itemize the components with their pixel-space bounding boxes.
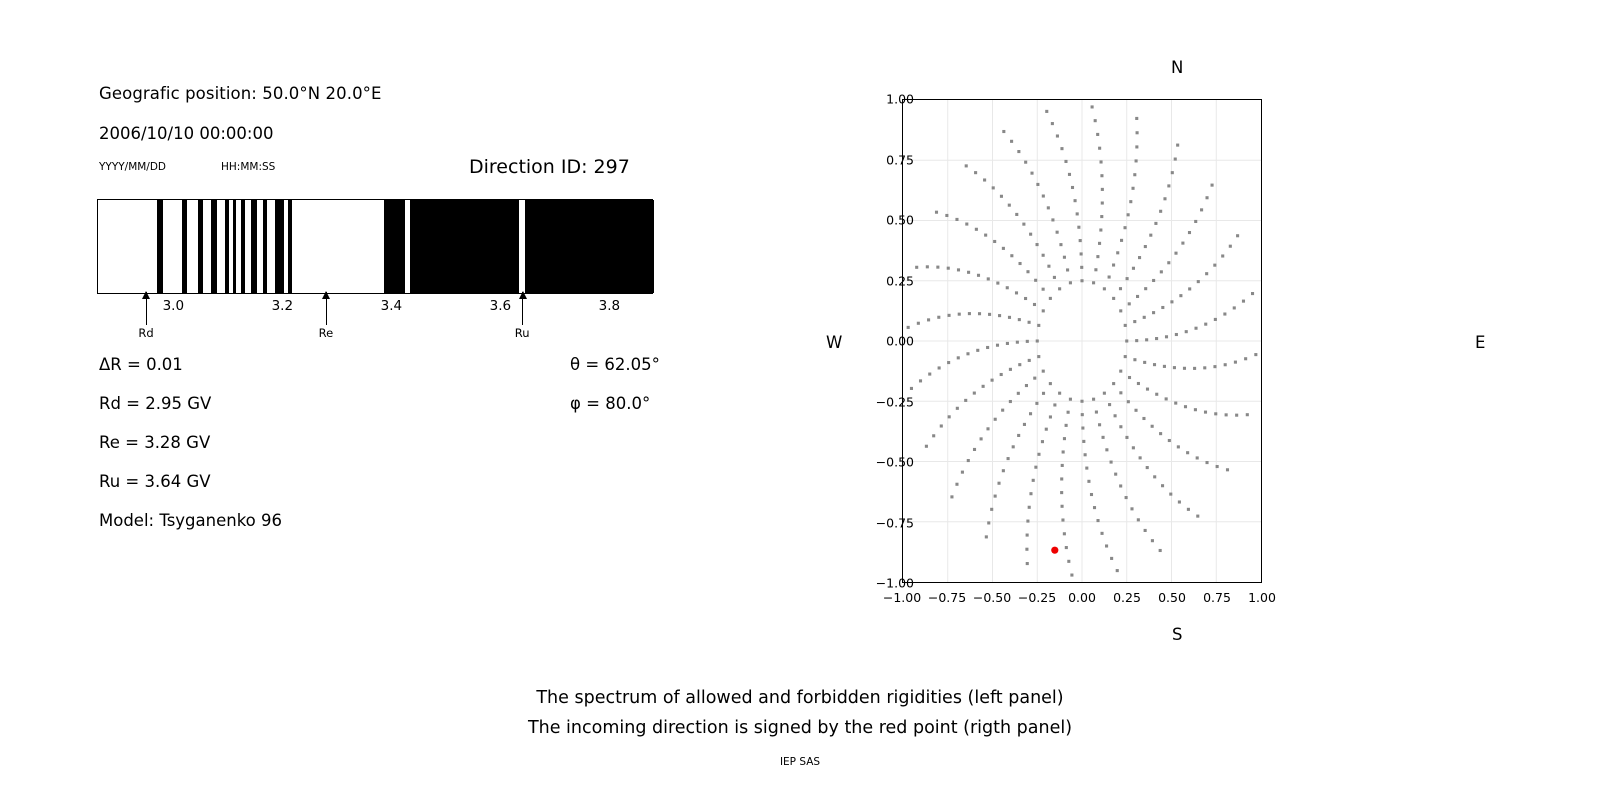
scatter-point [996,282,999,285]
scatter-point [1196,456,1199,459]
scatter-point [1116,251,1119,254]
scatter-point [935,211,938,214]
scatter-point [1126,277,1129,280]
scatter-point [1144,529,1147,532]
scatter-point [1159,210,1162,213]
scatter-point [1063,437,1066,440]
scatter-point [1035,402,1038,405]
scatter-point [938,366,941,369]
scatter-point [965,223,968,226]
scatter-point [1012,445,1015,448]
scatter-point [1002,469,1005,472]
scatter-point [1026,520,1029,523]
scatter-point [1017,392,1020,395]
scatter-point [1112,297,1115,300]
scatter-point [1066,268,1069,271]
scatter-point [1229,245,1232,248]
scatter-point [1105,544,1108,547]
scatter-point [1032,479,1035,482]
forbidden-band [525,200,654,293]
scatter-point [948,415,951,418]
x-tick-label: 0.50 [1158,590,1186,605]
scatter-point [1119,309,1122,312]
scatter-point [1108,403,1111,406]
scatter-point [1082,440,1085,443]
scatter-point [1188,287,1191,290]
spectrum-tick-label: 3.6 [490,298,511,314]
scatter-point [1174,158,1177,161]
y-tick-label: 1.00 [886,92,914,107]
scatter-point [1139,456,1142,459]
scatter-point [1036,339,1039,342]
scatter-point [1025,548,1028,551]
scatter-point [1060,147,1063,150]
scatter-point [994,495,997,498]
scatter-point [1045,428,1048,431]
scatter-point [976,349,979,352]
scatter-point [1099,228,1102,231]
scatter-point [1015,213,1018,216]
scatter-point [1145,338,1148,341]
scatter-point [1129,200,1132,203]
scatter-point [1098,423,1101,426]
scatter-point [1060,491,1063,494]
scatter-point [1051,122,1054,125]
forbidden-band [211,200,217,293]
scatter-point [1224,363,1227,366]
spectrum-axis: 3.03.23.43.63.8RdReRu [97,294,653,350]
scatter-point [1152,311,1155,314]
scatter-point [1138,256,1141,259]
scatter-point [1153,475,1156,478]
scatter-point [1053,403,1056,406]
scatter-point [1007,457,1010,460]
scatter-point [1049,382,1052,385]
scatter-point [1235,414,1238,417]
scatter-point [936,266,939,269]
scatter-point [1127,400,1130,403]
scatter-point [1002,247,1005,250]
scatter-point [1114,473,1117,476]
scatter-point [1193,367,1196,370]
scatter-point [1155,393,1158,396]
scatter-point [1204,323,1207,326]
scatter-point [966,352,969,355]
scatter-point [1042,194,1045,197]
scatter-point [1213,365,1216,368]
y-tick-label: −0.50 [876,455,914,470]
scatter-point [958,313,961,316]
scatter-point [1025,384,1028,387]
scatter-point [1067,560,1070,563]
scatter-point [1065,424,1068,427]
scatter-point [1100,160,1103,163]
scatter-point [1037,324,1040,327]
scatter-point [947,314,950,317]
scatter-point [1076,212,1079,215]
spectrum-bar [97,199,653,294]
scatter-point [1061,518,1064,521]
incoming-direction-point [1051,547,1058,554]
scatter-point [1033,377,1036,380]
scatter-point [1226,468,1229,471]
y-tick-label: 0.75 [886,152,914,167]
scatter-point [1087,480,1090,483]
scatter-point [1179,294,1182,297]
scatter-point [1051,218,1054,221]
polar-scatter-panel [800,0,1600,660]
scatter-point [1079,239,1082,242]
scatter-point [1205,461,1208,464]
compass-label-west: W [826,333,842,352]
scatter-point [1131,187,1134,190]
scatter-point [1211,184,1214,187]
scatter-point [1049,297,1052,300]
scatter-point [1081,413,1084,416]
scatter-point [1234,361,1237,364]
scatter-point [1110,461,1113,464]
scatter-point [1018,318,1021,321]
scatter-point [1112,382,1115,385]
scatter-point [1091,105,1094,108]
left-panel: Geografic position: 50.0°N 20.0°E 2006/1… [0,0,800,660]
scatter-point [1163,365,1166,368]
scatter-point [1023,423,1026,426]
forbidden-band [288,200,292,293]
date-format-hint: YYYY/MM/DD [99,161,166,173]
param-model: Model: Tsyganenko 96 [99,511,282,530]
scatter-point [1096,519,1099,522]
scatter-point [1173,366,1176,369]
scatter-point [1036,243,1039,246]
scatter-point [1033,303,1036,306]
scatter-point [985,535,988,538]
scatter-point [1125,436,1128,439]
scatter-point [1060,477,1063,480]
y-tick-label: 0.25 [886,273,914,288]
scatter-point [932,434,935,437]
scatter-point [1017,150,1020,153]
scatter-point [1010,254,1013,257]
scatter-point [1028,359,1031,362]
scatter-point [1029,492,1032,495]
scatter-point [1149,234,1152,237]
marker-arrow-head [519,291,527,299]
scatter-point [987,521,990,524]
scatter-point [1001,409,1004,412]
param-ru: Ru = 3.64 GV [99,472,211,491]
scatter-point [919,379,922,382]
scatter-point [1064,160,1067,163]
scatter-point [1178,500,1181,503]
scatter-point [1120,239,1123,242]
scatter-point [1165,335,1168,338]
scatter-point [1037,453,1040,456]
scatter-point [1100,215,1103,218]
scatter-point [964,399,967,402]
scatter-point [1006,342,1009,345]
scatter-point [1098,147,1101,150]
scatter-point [1030,172,1033,175]
scatter-point [917,322,920,325]
marker-arrow-head [142,291,150,299]
scatter-point [957,356,960,359]
scatter-point [984,234,987,237]
scatter-point [915,266,918,269]
scatter-point [1254,353,1257,356]
scatter-point [1096,255,1099,258]
scatter-point [968,312,971,315]
scatter-point [1026,534,1029,537]
scatter-point [991,379,994,382]
scatter-point [1103,392,1106,395]
scatter-point [1042,309,1045,312]
forbidden-band [182,200,187,293]
scatter-point [950,495,953,498]
scatter-point [1152,279,1155,282]
scatter-point [1053,276,1056,279]
param-re: Re = 3.28 GV [99,433,210,452]
direction-id-label: Direction ID: 297 [469,156,630,178]
param-delta-r: ΔR = 0.01 [99,355,183,374]
scatter-point [961,471,964,474]
scatter-point [1009,368,1012,371]
scatter-point [1204,411,1207,414]
scatter-point [1119,370,1122,373]
scatter-point [1155,337,1158,340]
scatter-point [1041,440,1044,443]
x-axis-ticks: −1.00−0.75−0.50−0.250.000.250.500.751.00 [0,590,1600,612]
scatter-point [1197,280,1200,283]
scatter-point [1042,392,1045,395]
scatter-point [1047,206,1050,209]
scatter-point [1177,445,1180,448]
scatter-point [1119,425,1122,428]
scatter-point [1225,413,1228,416]
scatter-point [1160,270,1163,273]
scatter-point [1000,195,1003,198]
scatter-point [1124,355,1127,358]
scatter-point [1026,270,1029,273]
scatter-point [1002,130,1005,133]
scatter-point [1169,493,1172,496]
scatter-point [1119,287,1122,290]
scatter-point [955,218,958,221]
scatter-point [1080,400,1083,403]
scatter-point [975,228,978,231]
scatter-point [1143,316,1146,319]
marker-arrow-head [322,291,330,299]
scatter-point [1153,363,1156,366]
scatter-point [1010,140,1013,143]
scatter-point [1008,316,1011,319]
forbidden-band [233,200,236,293]
scatter-point [1119,391,1122,394]
scatter-point [1159,432,1162,435]
scatter-point [1085,467,1088,470]
scatter-point [1233,306,1236,309]
scatter-point [1098,242,1101,245]
scatter-point [1017,434,1020,437]
x-tick-label: −0.50 [973,590,1011,605]
scatter-point [947,361,950,364]
scatter-point [967,459,970,462]
scatter-point [997,482,1000,485]
scatter-point [1142,417,1145,420]
scatter-point [1242,300,1245,303]
scatter-point [928,373,931,376]
scatter-point [1022,223,1025,226]
scatter-point [937,316,940,319]
scatter-point [1056,134,1059,137]
scatter-point [983,178,986,181]
scatter-point [1181,242,1184,245]
scatter-point [925,445,928,448]
scatter-point [1101,201,1104,204]
scatter-point [1170,300,1173,303]
y-tick-label: −0.75 [876,515,914,530]
scatter-point [1175,333,1178,336]
scatter-point [1221,254,1224,257]
scatter-point [1194,408,1197,411]
scatter-point [1214,412,1217,415]
scatter-point [1028,506,1031,509]
scatter-point [1194,327,1197,330]
scatter-point [1196,515,1199,518]
scatter-point [1176,144,1179,147]
scatter-point [973,448,976,451]
scatter-point [1125,496,1128,499]
spectrum-tick-label: 3.8 [599,298,620,314]
forbidden-band [263,200,267,293]
x-tick-label: 0.25 [1113,590,1141,605]
scatter-point [1061,505,1064,508]
scatter-point [1018,363,1021,366]
scatter-point [1146,388,1149,391]
scatter-point [1026,340,1029,343]
scatter-point [957,268,960,271]
scatter-point [1216,465,1219,468]
scatter-point [1029,233,1032,236]
x-tick-label: −1.00 [883,590,921,605]
scatter-point [967,271,970,274]
scatter-point [996,344,999,347]
scatter-point [1042,370,1045,373]
forbidden-band [410,200,519,293]
forbidden-band [198,200,203,293]
scatter-point [1133,358,1136,361]
scatter-point [956,407,959,410]
scatter-point [1070,574,1073,577]
scatter-point [1146,466,1149,469]
scatter-point [1163,197,1166,200]
scatter-point [978,312,981,315]
scatter-point [1165,397,1168,400]
scatter-point [993,240,996,243]
scatter-point [1144,245,1147,248]
scatter-point [1094,119,1097,122]
scatter-point [1137,382,1140,385]
scatter-point [1015,291,1018,294]
scatter-point [1186,451,1189,454]
scatter-point [1188,231,1191,234]
scatter-point [1028,321,1031,324]
x-tick-label: 0.00 [1068,590,1096,605]
scatter-point [965,164,968,167]
scatter-point [1042,254,1045,257]
scatter-point [1134,409,1137,412]
scatter-point [1074,199,1077,202]
scatter-point [1062,450,1065,453]
scatter-point [926,265,929,268]
scatter-point [1214,318,1217,321]
compass-label-north: N [1171,58,1183,77]
scatter-point [1161,484,1164,487]
scatter-point [1171,171,1174,174]
scatter-point [1251,292,1254,295]
scatter-point [1042,288,1045,291]
scatter-point [990,508,993,511]
forbidden-band [251,200,257,293]
scatter-point [1006,286,1009,289]
scatter-point [1143,361,1146,364]
y-tick-label: −1.00 [876,576,914,591]
scatter-point [1008,204,1011,207]
rigidity-spectrum [97,199,653,294]
compass-label-east: E [1475,333,1485,352]
scatter-point [994,418,997,421]
scatter-point [947,267,950,270]
scatter-point [1047,265,1050,268]
param-rd: Rd = 2.95 GV [99,394,211,413]
scatter-point [1112,263,1115,266]
param-theta: θ = 62.05° [570,355,660,374]
scatter-point [1114,414,1117,417]
scatter-point [1058,392,1061,395]
caption-line-1: The spectrum of allowed and forbidden ri… [0,688,1600,708]
scatter-point [1036,183,1039,186]
x-tick-label: −0.75 [928,590,966,605]
forbidden-band [241,200,245,293]
y-axis-ticks: 1.000.750.500.250.00−0.25−0.50−0.75−1.00 [862,0,914,660]
scatter-point [1096,133,1099,136]
scatter-point [1093,506,1096,509]
scatter-point [1133,173,1136,176]
scatter-point [1065,546,1068,549]
scatter-point [986,427,989,430]
scatter-point [980,437,983,440]
x-tick-label: 0.75 [1203,590,1231,605]
scatter-point [986,346,989,349]
scatter-point [1000,373,1003,376]
scatter-point [1161,306,1164,309]
scatter-point [1080,279,1083,282]
scatter-point [1049,415,1052,418]
scatter-point [1151,539,1154,542]
scatter-point [1135,339,1138,342]
scatter-point [1034,466,1037,469]
scatter-point [1068,173,1071,176]
scatter-point [1174,402,1177,405]
scatter-point [1100,532,1103,535]
scatter-point [1119,484,1122,487]
scatter-point [1244,357,1247,360]
scatter-point [1187,508,1190,511]
scatter-point [1080,266,1083,269]
scatter-point [1167,184,1170,187]
scatter-point [1094,268,1097,271]
scatter-point [1185,330,1188,333]
